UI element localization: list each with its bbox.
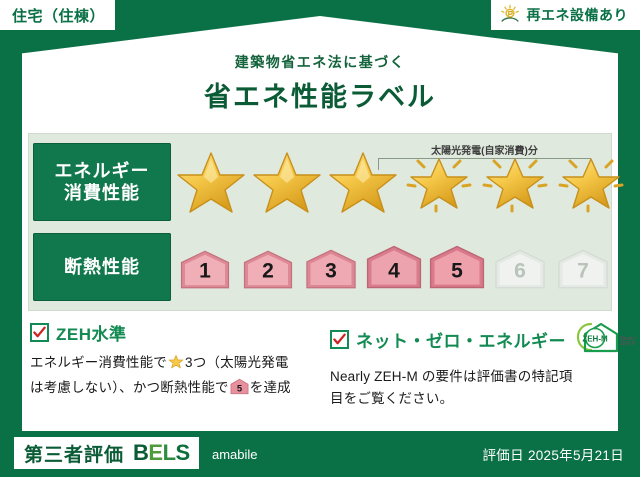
insulation-label-text: 断熱性能 — [64, 256, 140, 279]
bels-letter-s: S — [176, 440, 190, 465]
insulation-badge-2-value: 2 — [238, 260, 298, 284]
label-title: 建築物省エネ法に基づく 省エネ性能ラベル — [0, 52, 640, 114]
bels-logo: BELS — [133, 440, 190, 466]
energy-star-6-solar — [555, 149, 627, 215]
label-footer: 第三者評価 BELS amabile 評価日 2025年5月21日 — [0, 431, 640, 477]
energy-performance-label-card: 住宅（住棟） 再エネ設備あり 建築物省エネ法に基づく 省エネ性能ラベル — [0, 0, 640, 477]
energy-row-body: 太陽光発電(自家消費)分 — [171, 140, 607, 224]
bels-letter-e: E — [148, 440, 162, 465]
insulation-badge-6-value: 6 — [490, 260, 550, 284]
insulation-badge-6: 6 — [490, 249, 550, 290]
net-zero-energy-checkbox[interactable] — [330, 330, 349, 349]
nze-desc-line1: Nearly ZEH-M の要件は評価書の特記項 — [330, 369, 573, 384]
evaluation-date-value: 2025年5月21日 — [528, 444, 624, 464]
zeh-standard-description: エネルギー消費性能で3つ（太陽光発電 は考慮しない）、かつ断熱性能で5を達成 — [30, 352, 312, 402]
svg-text:5: 5 — [237, 383, 243, 394]
zeh-standard-section: ZEH水準 エネルギー消費性能で3つ（太陽光発電 は考慮しない）、かつ断熱性能で… — [30, 320, 312, 402]
zeh-desc-part2: 3つ（太陽光発電 — [185, 355, 289, 370]
insulation-badge-5-value: 5 — [427, 260, 487, 284]
zeh-m-logo-icon: ZEH-M Nearly ZEH-M — [573, 320, 635, 359]
insulation-badge-1-value: 1 — [175, 260, 235, 284]
insulation-badge-3-value: 3 — [301, 260, 361, 284]
nze-desc-line2: 目をご覧ください。 — [330, 391, 453, 406]
bels-letter-l: L — [163, 440, 176, 465]
energy-performance-row: エネルギー 消費性能 太陽光発電(自家消費)分 — [33, 140, 607, 224]
building-type-text: 住宅（住棟） — [12, 5, 105, 26]
zeh-desc-part1: エネルギー消費性能で — [30, 355, 167, 370]
net-zero-energy-title: ネット・ゼロ・エネルギー — [356, 327, 566, 352]
energy-label-line1: エネルギー — [55, 160, 150, 183]
insulation-performance-label: 断熱性能 — [33, 233, 171, 301]
energy-star-5-solar — [479, 149, 551, 215]
bels-certification-box: 第三者評価 BELS — [14, 437, 199, 469]
insulation-badge-1: 1 — [175, 250, 235, 290]
title-main: 省エネ性能ラベル — [0, 75, 640, 114]
evaluation-date-label: 評価日 — [482, 444, 523, 464]
energy-star-4-solar — [403, 149, 475, 215]
net-zero-energy-section: ネット・ゼロ・エネルギー ZEH-M Nearly ZEH-M Nearly Z… — [330, 320, 616, 410]
insulation-badge-7: 7 — [553, 249, 613, 290]
insulation-badge-7-value: 7 — [553, 260, 613, 284]
bels-letter-b: B — [133, 440, 148, 465]
sun-renewable-icon — [499, 4, 521, 26]
insulation-badge-4: 4 — [364, 245, 424, 290]
evaluation-date: 評価日 2025年5月21日 — [482, 431, 624, 477]
net-zero-energy-description: Nearly ZEH-M の要件は評価書の特記項 目をご覧ください。 — [330, 366, 616, 410]
renewable-equipment-tag: 再エネ設備あり — [491, 0, 640, 30]
renewable-tag-text: 再エネ設備あり — [527, 5, 629, 25]
energy-star-rating — [175, 149, 627, 215]
energy-label-line2: 消費性能 — [64, 182, 140, 205]
zeh-standard-header: ZEH水準 — [30, 320, 312, 345]
third-party-evaluation-label: 第三者評価 — [24, 440, 124, 467]
energy-star-2 — [251, 149, 323, 215]
zeh-standard-checkbox[interactable] — [30, 323, 49, 342]
title-subtitle: 建築物省エネ法に基づく — [0, 52, 640, 72]
building-type-tag: 住宅（住棟） — [0, 0, 115, 30]
insulation-badge-4-value: 4 — [364, 260, 424, 284]
insulation-badge-2: 2 — [238, 250, 298, 290]
net-zero-energy-header: ネット・ゼロ・エネルギー ZEH-M Nearly ZEH-M — [330, 320, 616, 359]
energy-star-1 — [175, 149, 247, 215]
svg-text:ZEH-M: ZEH-M — [620, 341, 635, 347]
energy-star-3 — [327, 149, 399, 215]
insulation-badge-5: 5 — [427, 245, 487, 290]
insulation-performance-row: 断熱性能 1 — [33, 230, 607, 304]
gold-star-icon — [168, 354, 184, 377]
insulation-row-body: 1 2 3 — [171, 230, 607, 304]
builder-name: amabile — [212, 431, 258, 477]
energy-performance-label: エネルギー 消費性能 — [33, 143, 171, 221]
insulation-level-badges: 1 2 3 — [175, 245, 613, 290]
zeh-desc-line2-part1: は考慮しない）、かつ断熱性能で — [30, 380, 229, 395]
zeh-desc-part3: を達成 — [250, 380, 291, 395]
insulation-badge-3: 3 — [301, 249, 361, 290]
insulation-badge-5-icon: 5 — [230, 378, 249, 402]
svg-text:ZEH-M: ZEH-M — [582, 335, 608, 344]
zeh-standard-title: ZEH水準 — [56, 320, 127, 345]
performance-panel: エネルギー 消費性能 太陽光発電(自家消費)分 — [28, 133, 612, 311]
